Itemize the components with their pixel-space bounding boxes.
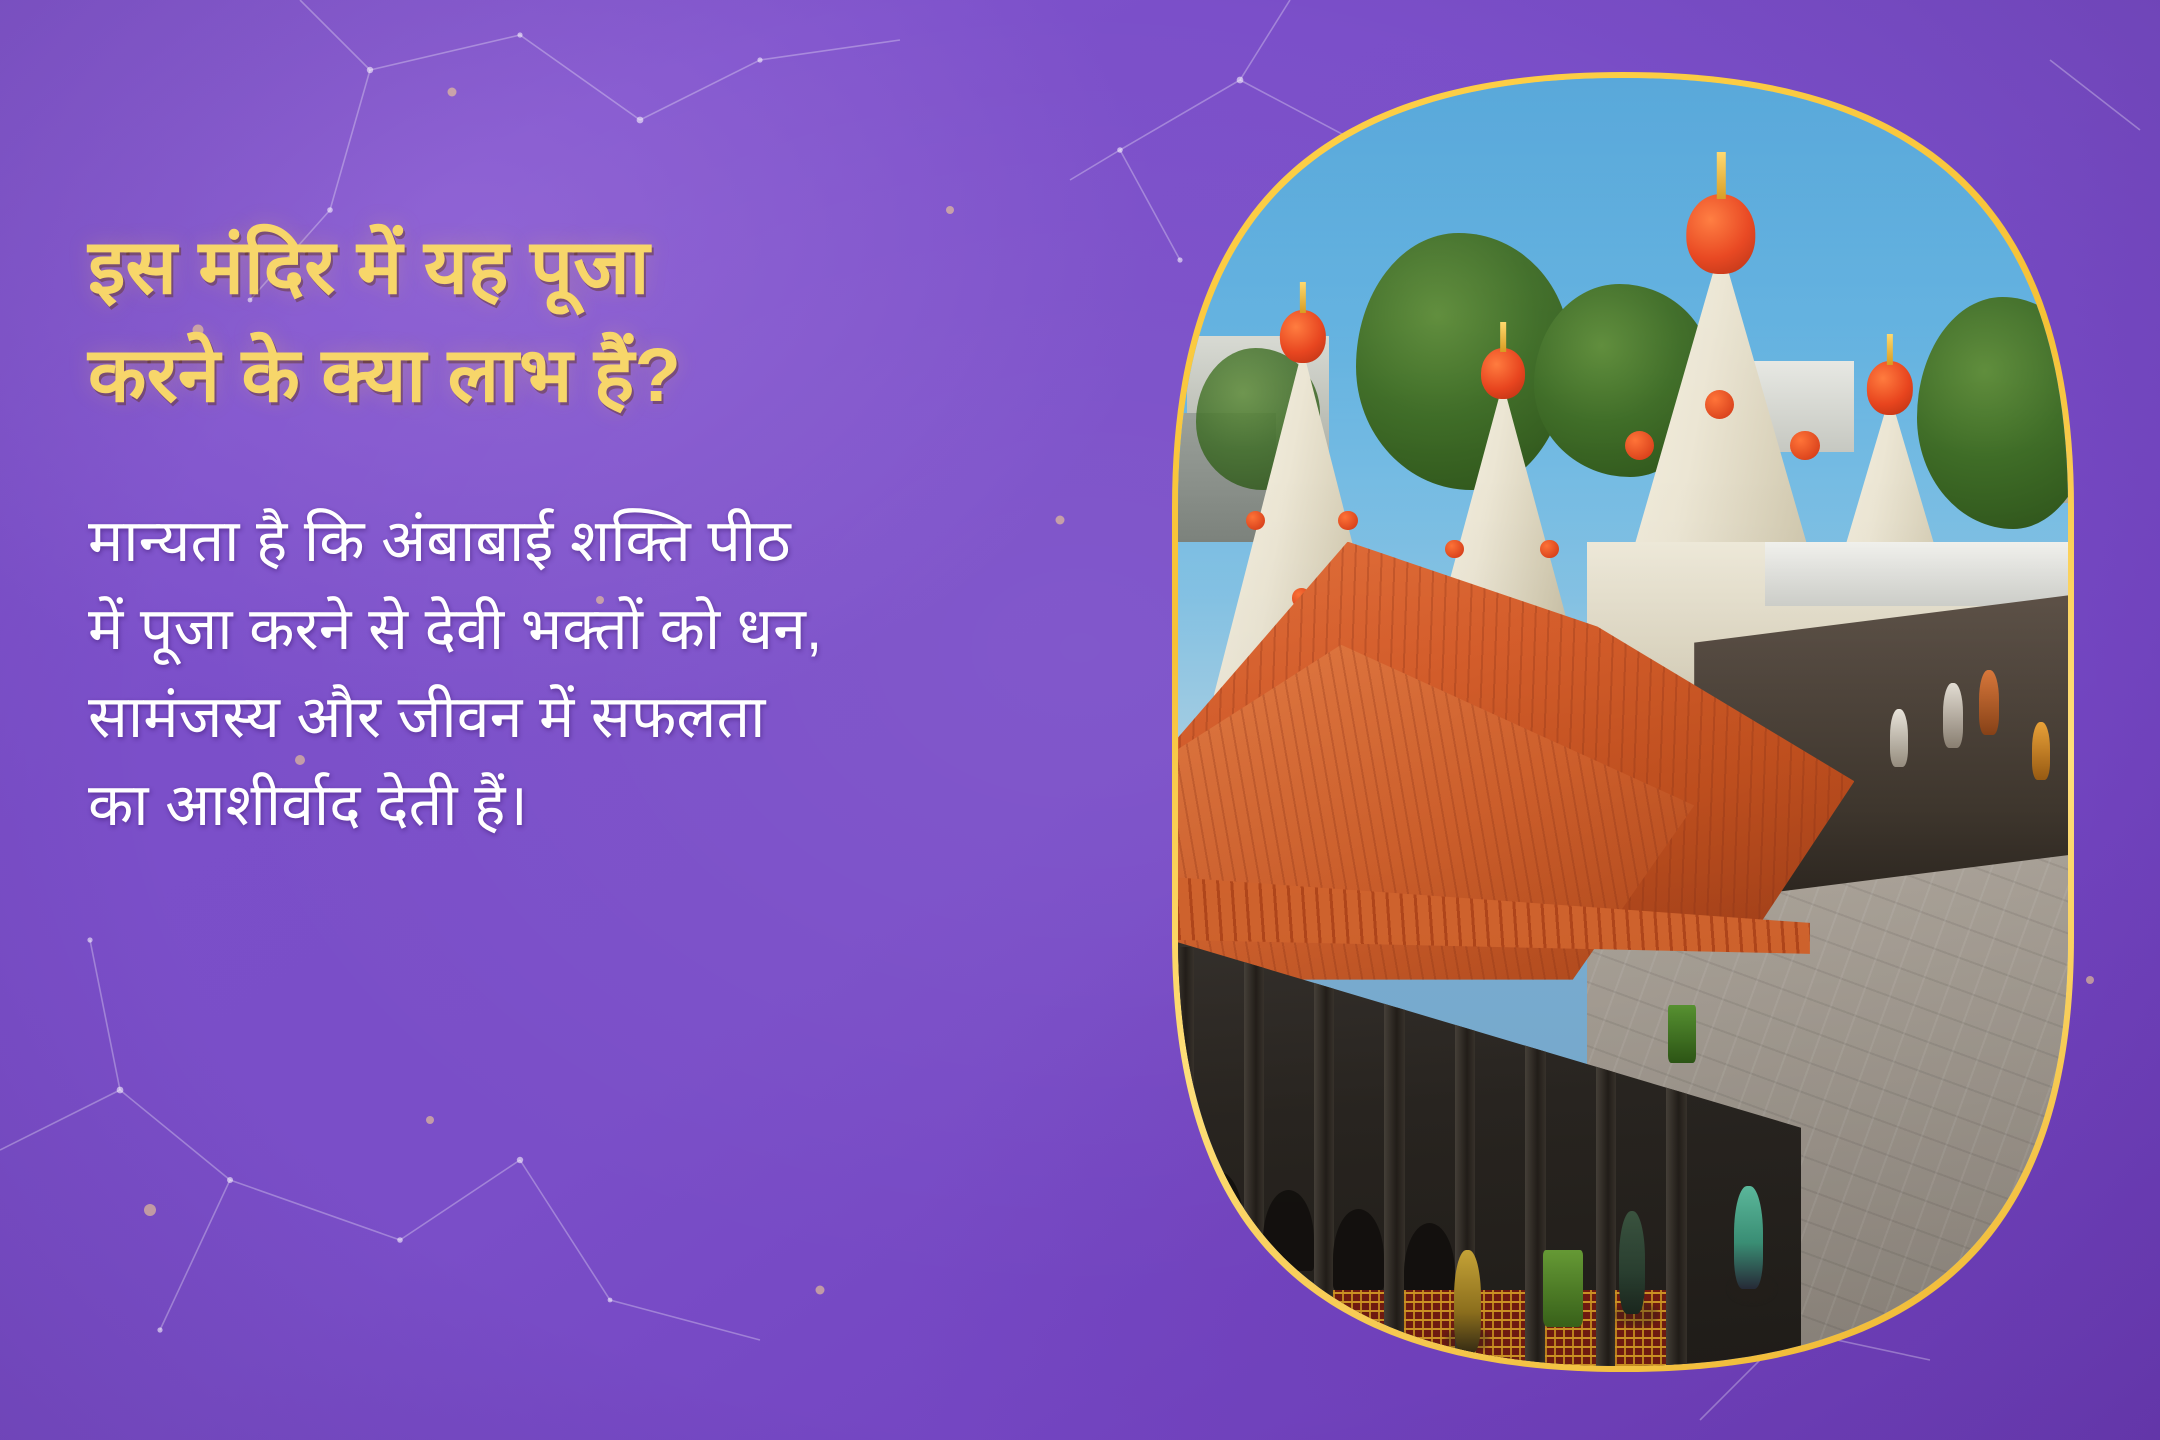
- page-title: इस मंदिर में यह पूजा करने के क्या लाभ है…: [88, 214, 1088, 430]
- body-paragraph: मान्यता है कि अंबाबाई शक्ति पीठ में पूजा…: [88, 430, 1088, 850]
- temple-photo-frame: [1178, 78, 2068, 1366]
- temple-photo: [1178, 78, 2068, 1366]
- photo-shading: [1178, 78, 2068, 1366]
- text-column: इस मंदिर में यह पूजा करने के क्या लाभ है…: [88, 214, 1088, 849]
- slide-canvas: इस मंदिर में यह पूजा करने के क्या लाभ है…: [0, 0, 2160, 1440]
